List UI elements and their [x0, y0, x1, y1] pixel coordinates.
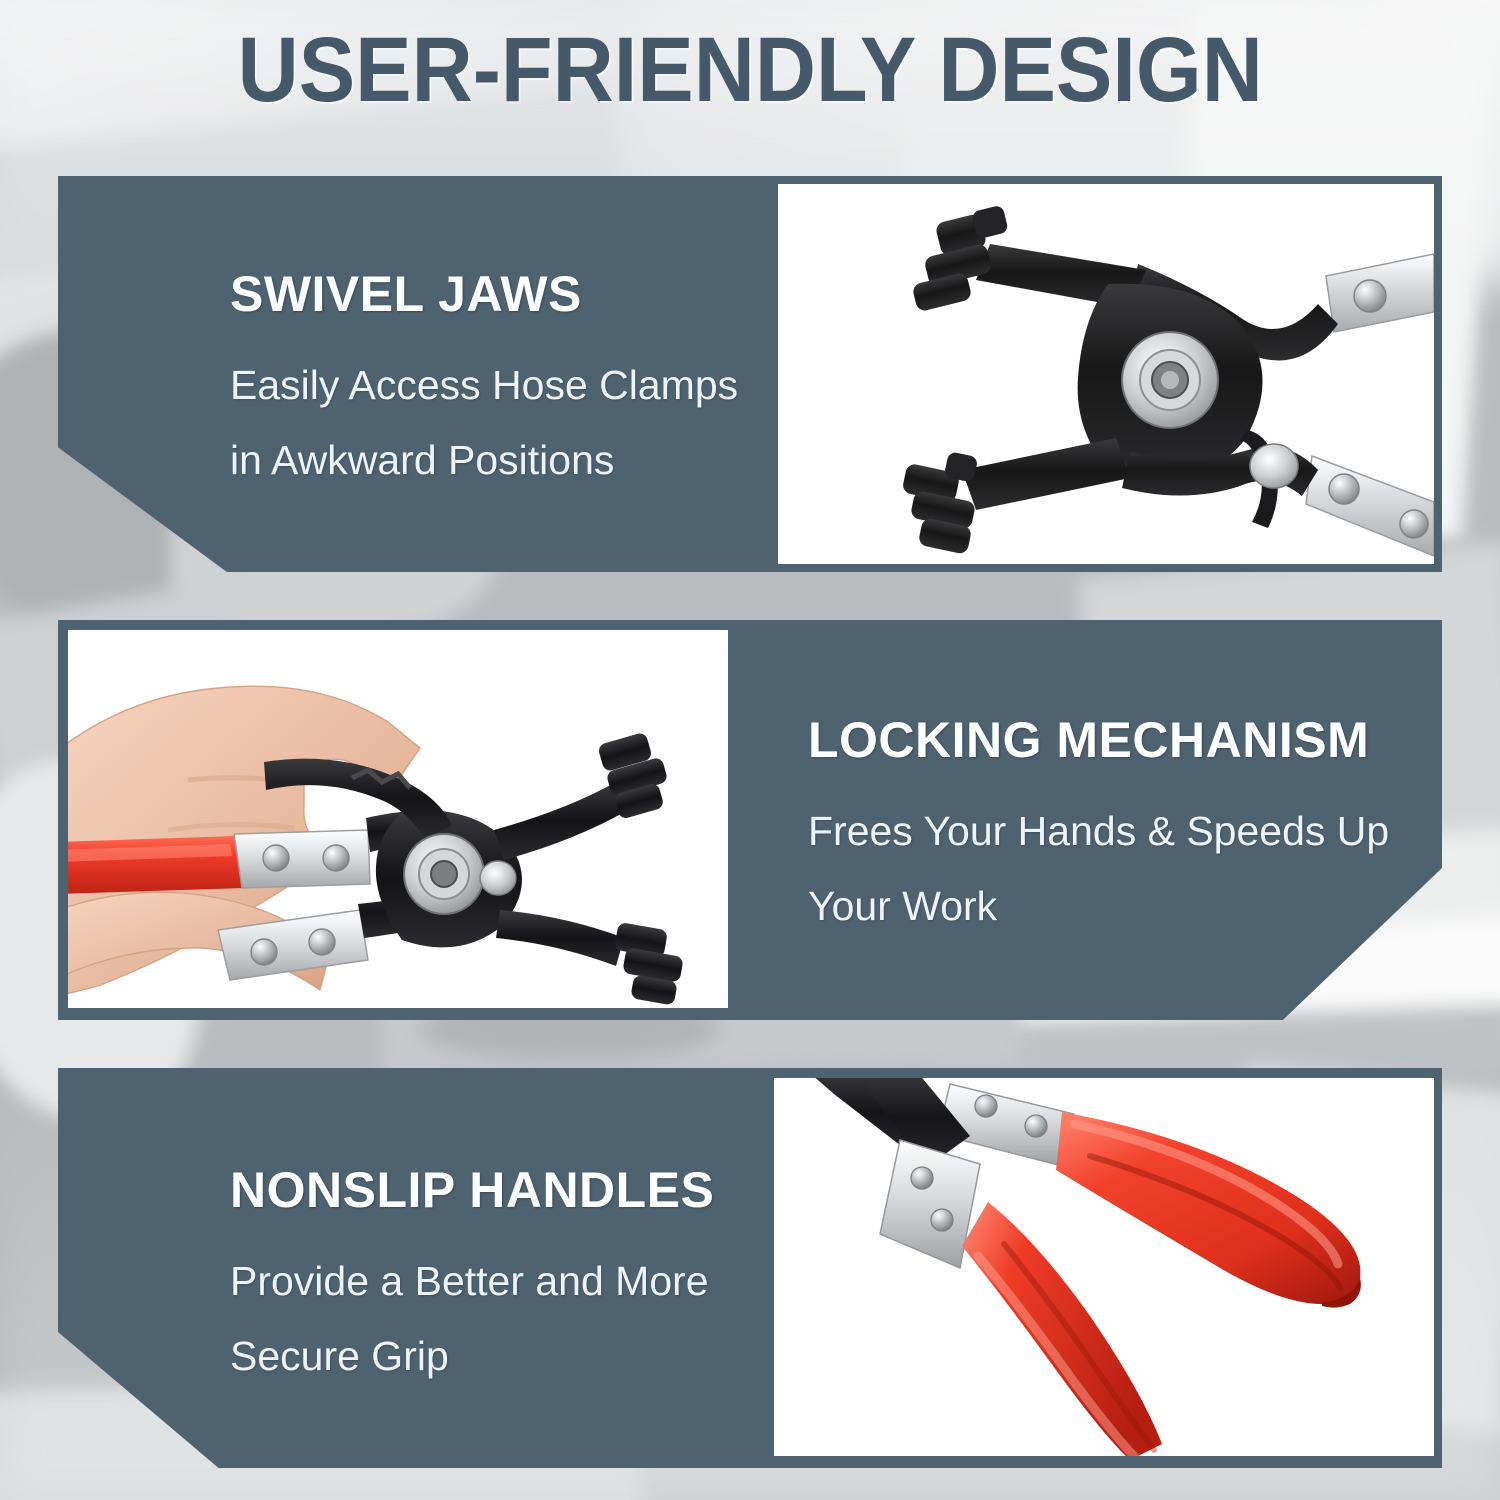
feature-heading: NONSLIP HANDLES: [230, 1164, 714, 1217]
feature-line: in Awkward Positions: [230, 440, 738, 481]
feature-line: Secure Grip: [230, 1336, 714, 1377]
feature-panel-nonslip-handles: NONSLIP HANDLES Provide a Better and Mor…: [58, 1068, 1442, 1468]
feature-line: Easily Access Hose Clamps: [230, 365, 738, 406]
product-photo-swivel-jaws: [778, 184, 1434, 564]
feature-panel-locking-mechanism: LOCKING MECHANISM Frees Your Hands & Spe…: [58, 620, 1442, 1020]
feature-line: Frees Your Hands & Speeds Up: [808, 811, 1389, 852]
feature-text-swivel-jaws: SWIVEL JAWS Easily Access Hose Clamps in…: [230, 268, 738, 481]
title-bar: USER-FRIENDLY DESIGN: [0, 0, 1500, 140]
feature-line: Your Work: [808, 886, 1389, 927]
feature-text-locking-mechanism: LOCKING MECHANISM Frees Your Hands & Spe…: [808, 714, 1389, 927]
product-photo-locking-mechanism: [68, 630, 728, 1008]
feature-heading: SWIVEL JAWS: [230, 268, 738, 321]
feature-text-nonslip-handles: NONSLIP HANDLES Provide a Better and Mor…: [230, 1164, 714, 1377]
product-photo-nonslip-handles: [774, 1078, 1434, 1456]
page-title: USER-FRIENDLY DESIGN: [237, 24, 1262, 116]
feature-heading: LOCKING MECHANISM: [808, 714, 1389, 767]
feature-panel-swivel-jaws: SWIVEL JAWS Easily Access Hose Clamps in…: [58, 176, 1442, 572]
feature-line: Provide a Better and More: [230, 1261, 714, 1302]
